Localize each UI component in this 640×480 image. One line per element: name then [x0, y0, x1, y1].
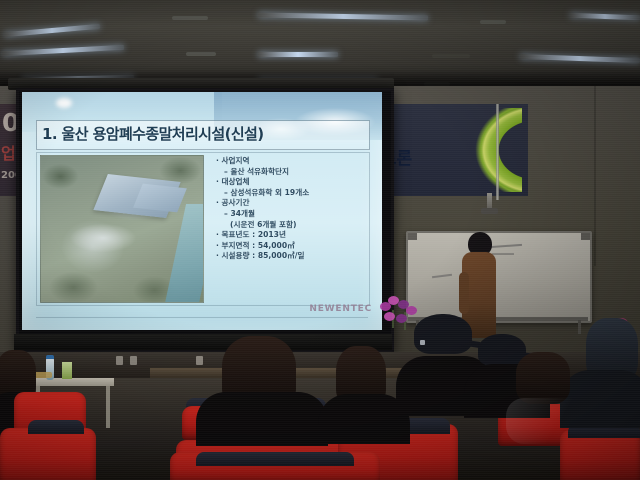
slide-divider	[36, 317, 368, 318]
whiteboard-writing	[432, 274, 452, 278]
bullet-item: · 사업지역	[210, 156, 368, 167]
presentation-slide: 1. 울산 용암폐수종말처리시설(신설) · 사업지역 – 울산 석유화학단지 …	[22, 92, 382, 330]
ceiling-vent	[186, 52, 216, 56]
ceiling-light	[520, 54, 640, 63]
bullet-text: 시설용량 : 85,000㎥/일	[222, 251, 305, 260]
whiteboard	[406, 231, 592, 323]
audience-shoulders	[196, 392, 328, 446]
bullet-text: 34개월	[230, 209, 255, 218]
ceiling-light	[4, 24, 100, 37]
presenter	[462, 232, 496, 336]
banner-pole	[496, 104, 499, 200]
ceiling-light	[258, 13, 428, 21]
bullet-item: – 34개월	[210, 209, 368, 220]
juice-carton	[62, 362, 72, 379]
bullet-text: 목표년도 : 2013년	[222, 230, 286, 239]
ceiling-light	[258, 52, 338, 57]
auditorium-seat	[0, 428, 96, 480]
wall-outlet	[130, 356, 137, 365]
side-table	[30, 378, 114, 386]
bullet-item: · 시설용량 : 85,000㎥/일	[210, 251, 368, 262]
banner-swoosh-graphic	[410, 108, 522, 192]
projector-hotspot	[56, 98, 72, 108]
wall-outlet	[116, 356, 123, 365]
bullet-marker: –	[224, 209, 228, 218]
cap-logo	[420, 340, 425, 345]
bottle-cap	[46, 355, 54, 359]
ceiling-light	[570, 13, 640, 20]
ceiling-vent	[432, 54, 470, 58]
bullet-item: · 대상업체	[210, 177, 368, 188]
ceiling	[0, 0, 640, 88]
flower-petal	[406, 306, 417, 315]
bullet-marker: ·	[216, 198, 219, 207]
bullet-marker: ·	[216, 251, 219, 260]
audience-head	[516, 352, 570, 404]
bullet-text: 부지면적 : 54,000㎡	[222, 241, 295, 250]
bullet-text: 삼성석유화학 외 19개소	[230, 188, 309, 197]
bullet-marker: –	[224, 188, 228, 197]
photo-facility-roof-2	[133, 184, 187, 213]
ceiling-vent	[172, 16, 208, 20]
bullet-text: 공사기간	[222, 198, 250, 207]
bullet-marker: –	[224, 167, 228, 176]
ceiling-fixture-head	[481, 208, 498, 214]
bullet-text: 대상업체	[222, 177, 250, 186]
screen-bottom-bar	[14, 334, 392, 350]
bullet-marker: ·	[216, 241, 219, 250]
bullet-item: · 목표년도 : 2013년	[210, 230, 368, 241]
slide-company-logo: NEWENTEC	[309, 304, 372, 314]
audience-cap	[414, 314, 472, 354]
banner-left-line2: 업	[1, 140, 16, 164]
bullet-text: 울산 석유화학단지	[230, 167, 289, 176]
bullet-item: – 삼성석유화학 외 19개소	[210, 188, 368, 199]
whiteboard-corner	[408, 233, 417, 240]
flower-petal	[384, 312, 395, 321]
ceiling-vent	[480, 20, 506, 24]
bullet-text: 사업지역	[222, 156, 250, 165]
slide-title: 1. 울산 용암폐수종말처리시설(신설)	[42, 123, 372, 144]
bullet-item: · 부지면적 : 54,000㎡	[210, 241, 368, 252]
bullet-item: (시운전 6개월 포함)	[210, 220, 368, 231]
bullet-marker: ·	[216, 230, 219, 239]
whiteboard-corner	[581, 233, 590, 240]
wall-seam	[594, 86, 596, 266]
ceiling-light	[2, 45, 124, 56]
flower-petal	[396, 314, 407, 323]
whiteboard-leg	[578, 320, 581, 334]
table-leg	[106, 386, 110, 428]
bullet-marker: ·	[216, 177, 219, 186]
photo-plaza	[57, 218, 149, 258]
seat-headrest	[28, 420, 84, 434]
snack-item	[34, 372, 52, 378]
slide-photo-rendering	[40, 155, 204, 303]
bullet-item: – 울산 석유화학단지	[210, 167, 368, 178]
wall-outlet	[196, 356, 203, 365]
seat-headrest	[196, 452, 354, 466]
bullet-item: · 공사기간	[210, 198, 368, 209]
slide-bullet-list: · 사업지역 – 울산 석유화학단지 · 대상업체 – 삼성석유화학 외 19개…	[210, 156, 368, 262]
bullet-text: (시운전 6개월 포함)	[230, 220, 296, 229]
bullet-marker: ·	[216, 156, 219, 165]
lecture-hall-photo: 00 업 2009. 수회 공전략토론 학교 환경공학과 1. 울산 용암폐수종…	[0, 0, 640, 480]
presenter-arm	[459, 272, 469, 314]
jacket-highlight	[506, 398, 592, 444]
